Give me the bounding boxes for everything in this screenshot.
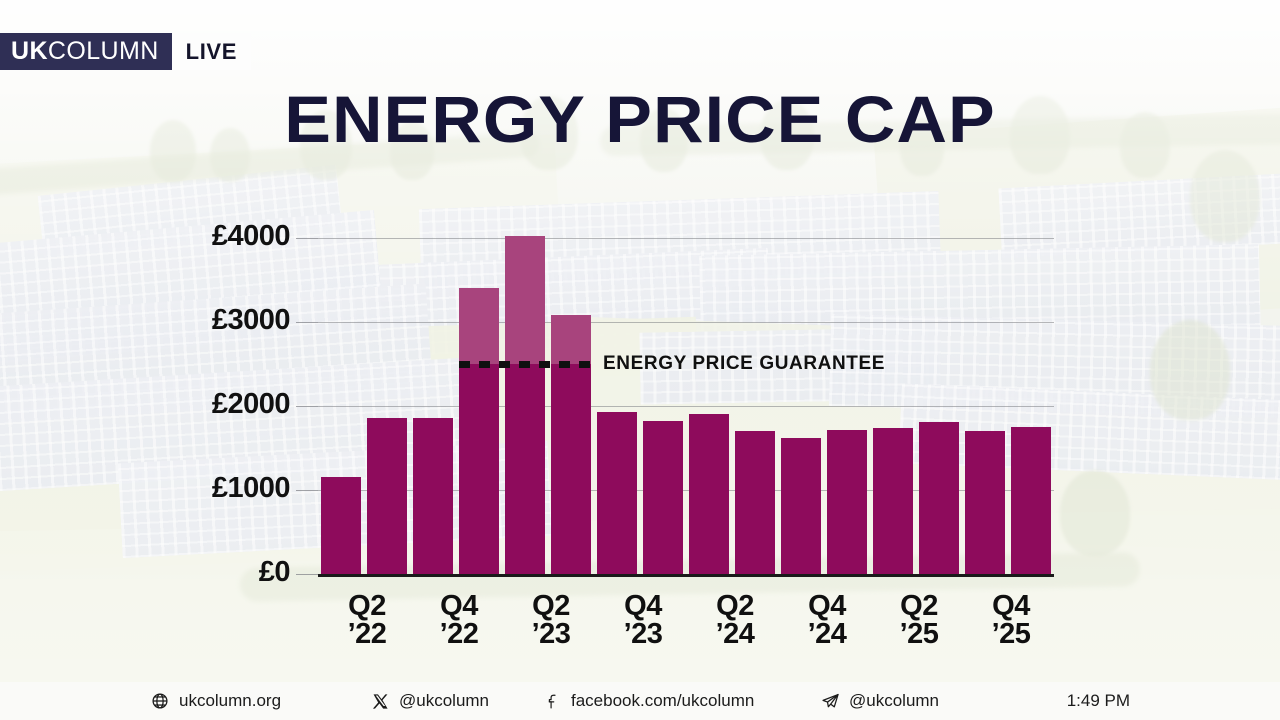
bar xyxy=(413,418,453,574)
bar xyxy=(781,438,821,574)
x-axis-labels: Q2’22Q4’22Q2’23Q4’23Q2’24Q4’24Q2’25Q4’25 xyxy=(318,592,1054,662)
bar-series xyxy=(318,238,1054,574)
bar-segment-below-guarantee xyxy=(413,418,453,574)
page-title: ENERGY PRICE CAP xyxy=(0,86,1280,152)
y-axis-label: £0 xyxy=(259,556,290,589)
bar-segment-below-guarantee xyxy=(643,421,683,574)
x-axis-label-quarter: Q4 xyxy=(781,592,873,620)
x-axis-label: Q2’22 xyxy=(321,592,413,649)
bar-segment-below-guarantee xyxy=(459,364,499,574)
clock: 1:49 PM xyxy=(1067,691,1130,711)
bar-segment-below-guarantee xyxy=(551,364,591,574)
x-axis-label-year: ’25 xyxy=(873,620,965,648)
bar xyxy=(505,236,545,574)
x-axis-label-quarter: Q4 xyxy=(413,592,505,620)
bar-segment-below-guarantee xyxy=(505,364,545,574)
live-badge: LIVE xyxy=(172,33,251,70)
x-axis-label-year: ’23 xyxy=(505,620,597,648)
y-axis-tick xyxy=(296,238,318,239)
y-axis-label: £4000 xyxy=(212,220,290,253)
x-axis-label-year: ’22 xyxy=(321,620,413,648)
bar-segment-below-guarantee xyxy=(1011,427,1051,574)
y-axis-tick xyxy=(296,406,318,407)
x-axis-label-year: ’24 xyxy=(689,620,781,648)
bar-segment-above-guarantee xyxy=(459,288,499,364)
bar-segment-below-guarantee xyxy=(873,428,913,574)
x-axis-label: Q2’23 xyxy=(505,592,597,649)
bar xyxy=(689,414,729,574)
y-axis-label: £2000 xyxy=(212,388,290,421)
plot-area: ENERGY PRICE GUARANTEE xyxy=(318,238,1054,574)
y-axis-label: £1000 xyxy=(212,472,290,505)
energy-price-guarantee-label: ENERGY PRICE GUARANTEE xyxy=(603,353,885,375)
x-axis-label: Q2’25 xyxy=(873,592,965,649)
telegram-icon xyxy=(820,691,840,711)
footer-item-facebook[interactable]: facebook.com/ukcolumn xyxy=(542,691,754,711)
y-axis-label: £3000 xyxy=(212,304,290,337)
logo-column: COLUMN xyxy=(48,39,159,64)
x-axis-label-year: ’22 xyxy=(413,620,505,648)
x-axis-label-quarter: Q2 xyxy=(505,592,597,620)
x-axis-label-quarter: Q2 xyxy=(321,592,413,620)
bar-segment-below-guarantee xyxy=(689,414,729,574)
bar-segment-below-guarantee xyxy=(919,422,959,574)
x-axis-label-quarter: Q2 xyxy=(873,592,965,620)
footer-bar: ukcolumn.org @ukcolumn facebook.com/ukco… xyxy=(0,682,1280,720)
bar xyxy=(873,428,913,574)
bar xyxy=(919,422,959,574)
logo-uk: UK xyxy=(11,39,48,64)
bar xyxy=(367,418,407,574)
x-axis-label: Q4’25 xyxy=(965,592,1057,649)
footer-item-telegram[interactable]: @ukcolumn xyxy=(820,691,939,711)
bar xyxy=(1011,427,1051,574)
bar xyxy=(321,477,361,574)
bar-segment-below-guarantee xyxy=(735,431,775,574)
ukcolumn-logo: UKCOLUMN xyxy=(0,33,172,70)
bar xyxy=(643,421,683,574)
x-axis-label: Q4’24 xyxy=(781,592,873,649)
footer-label-website: ukcolumn.org xyxy=(179,691,281,711)
bar xyxy=(459,288,499,574)
x-axis-label: Q4’22 xyxy=(413,592,505,649)
footer-label-x: @ukcolumn xyxy=(399,691,489,711)
bar xyxy=(965,431,1005,574)
x-icon xyxy=(370,691,390,711)
x-axis-label-year: ’25 xyxy=(965,620,1057,648)
energy-price-guarantee-line xyxy=(459,361,591,368)
bar-segment-below-guarantee xyxy=(597,412,637,574)
x-axis-label-quarter: Q2 xyxy=(689,592,781,620)
footer-item-x[interactable]: @ukcolumn xyxy=(370,691,489,711)
x-axis-label-quarter: Q4 xyxy=(597,592,689,620)
x-axis-line xyxy=(318,574,1054,577)
footer-label-telegram: @ukcolumn xyxy=(849,691,939,711)
bar xyxy=(551,315,591,574)
bar-segment-below-guarantee xyxy=(367,418,407,574)
footer-label-facebook: facebook.com/ukcolumn xyxy=(571,691,754,711)
bar xyxy=(827,430,867,574)
x-axis-label-year: ’24 xyxy=(781,620,873,648)
globe-icon xyxy=(150,691,170,711)
x-axis-label-year: ’23 xyxy=(597,620,689,648)
facebook-icon xyxy=(542,691,562,711)
bar-segment-above-guarantee xyxy=(505,236,545,364)
y-axis-tick xyxy=(296,322,318,323)
brand-bug: UKCOLUMN LIVE xyxy=(0,33,251,70)
bar-segment-above-guarantee xyxy=(551,315,591,364)
bar-segment-below-guarantee xyxy=(965,431,1005,574)
y-axis-tick xyxy=(296,490,318,491)
x-axis-label: Q2’24 xyxy=(689,592,781,649)
bar-segment-below-guarantee xyxy=(321,477,361,574)
bar xyxy=(597,412,637,574)
x-axis-label: Q4’23 xyxy=(597,592,689,649)
bar xyxy=(735,431,775,574)
bar-segment-below-guarantee xyxy=(781,438,821,574)
footer-item-website[interactable]: ukcolumn.org xyxy=(150,691,281,711)
x-axis-label-quarter: Q4 xyxy=(965,592,1057,620)
y-axis-tick xyxy=(296,574,318,575)
bar-segment-below-guarantee xyxy=(827,430,867,574)
